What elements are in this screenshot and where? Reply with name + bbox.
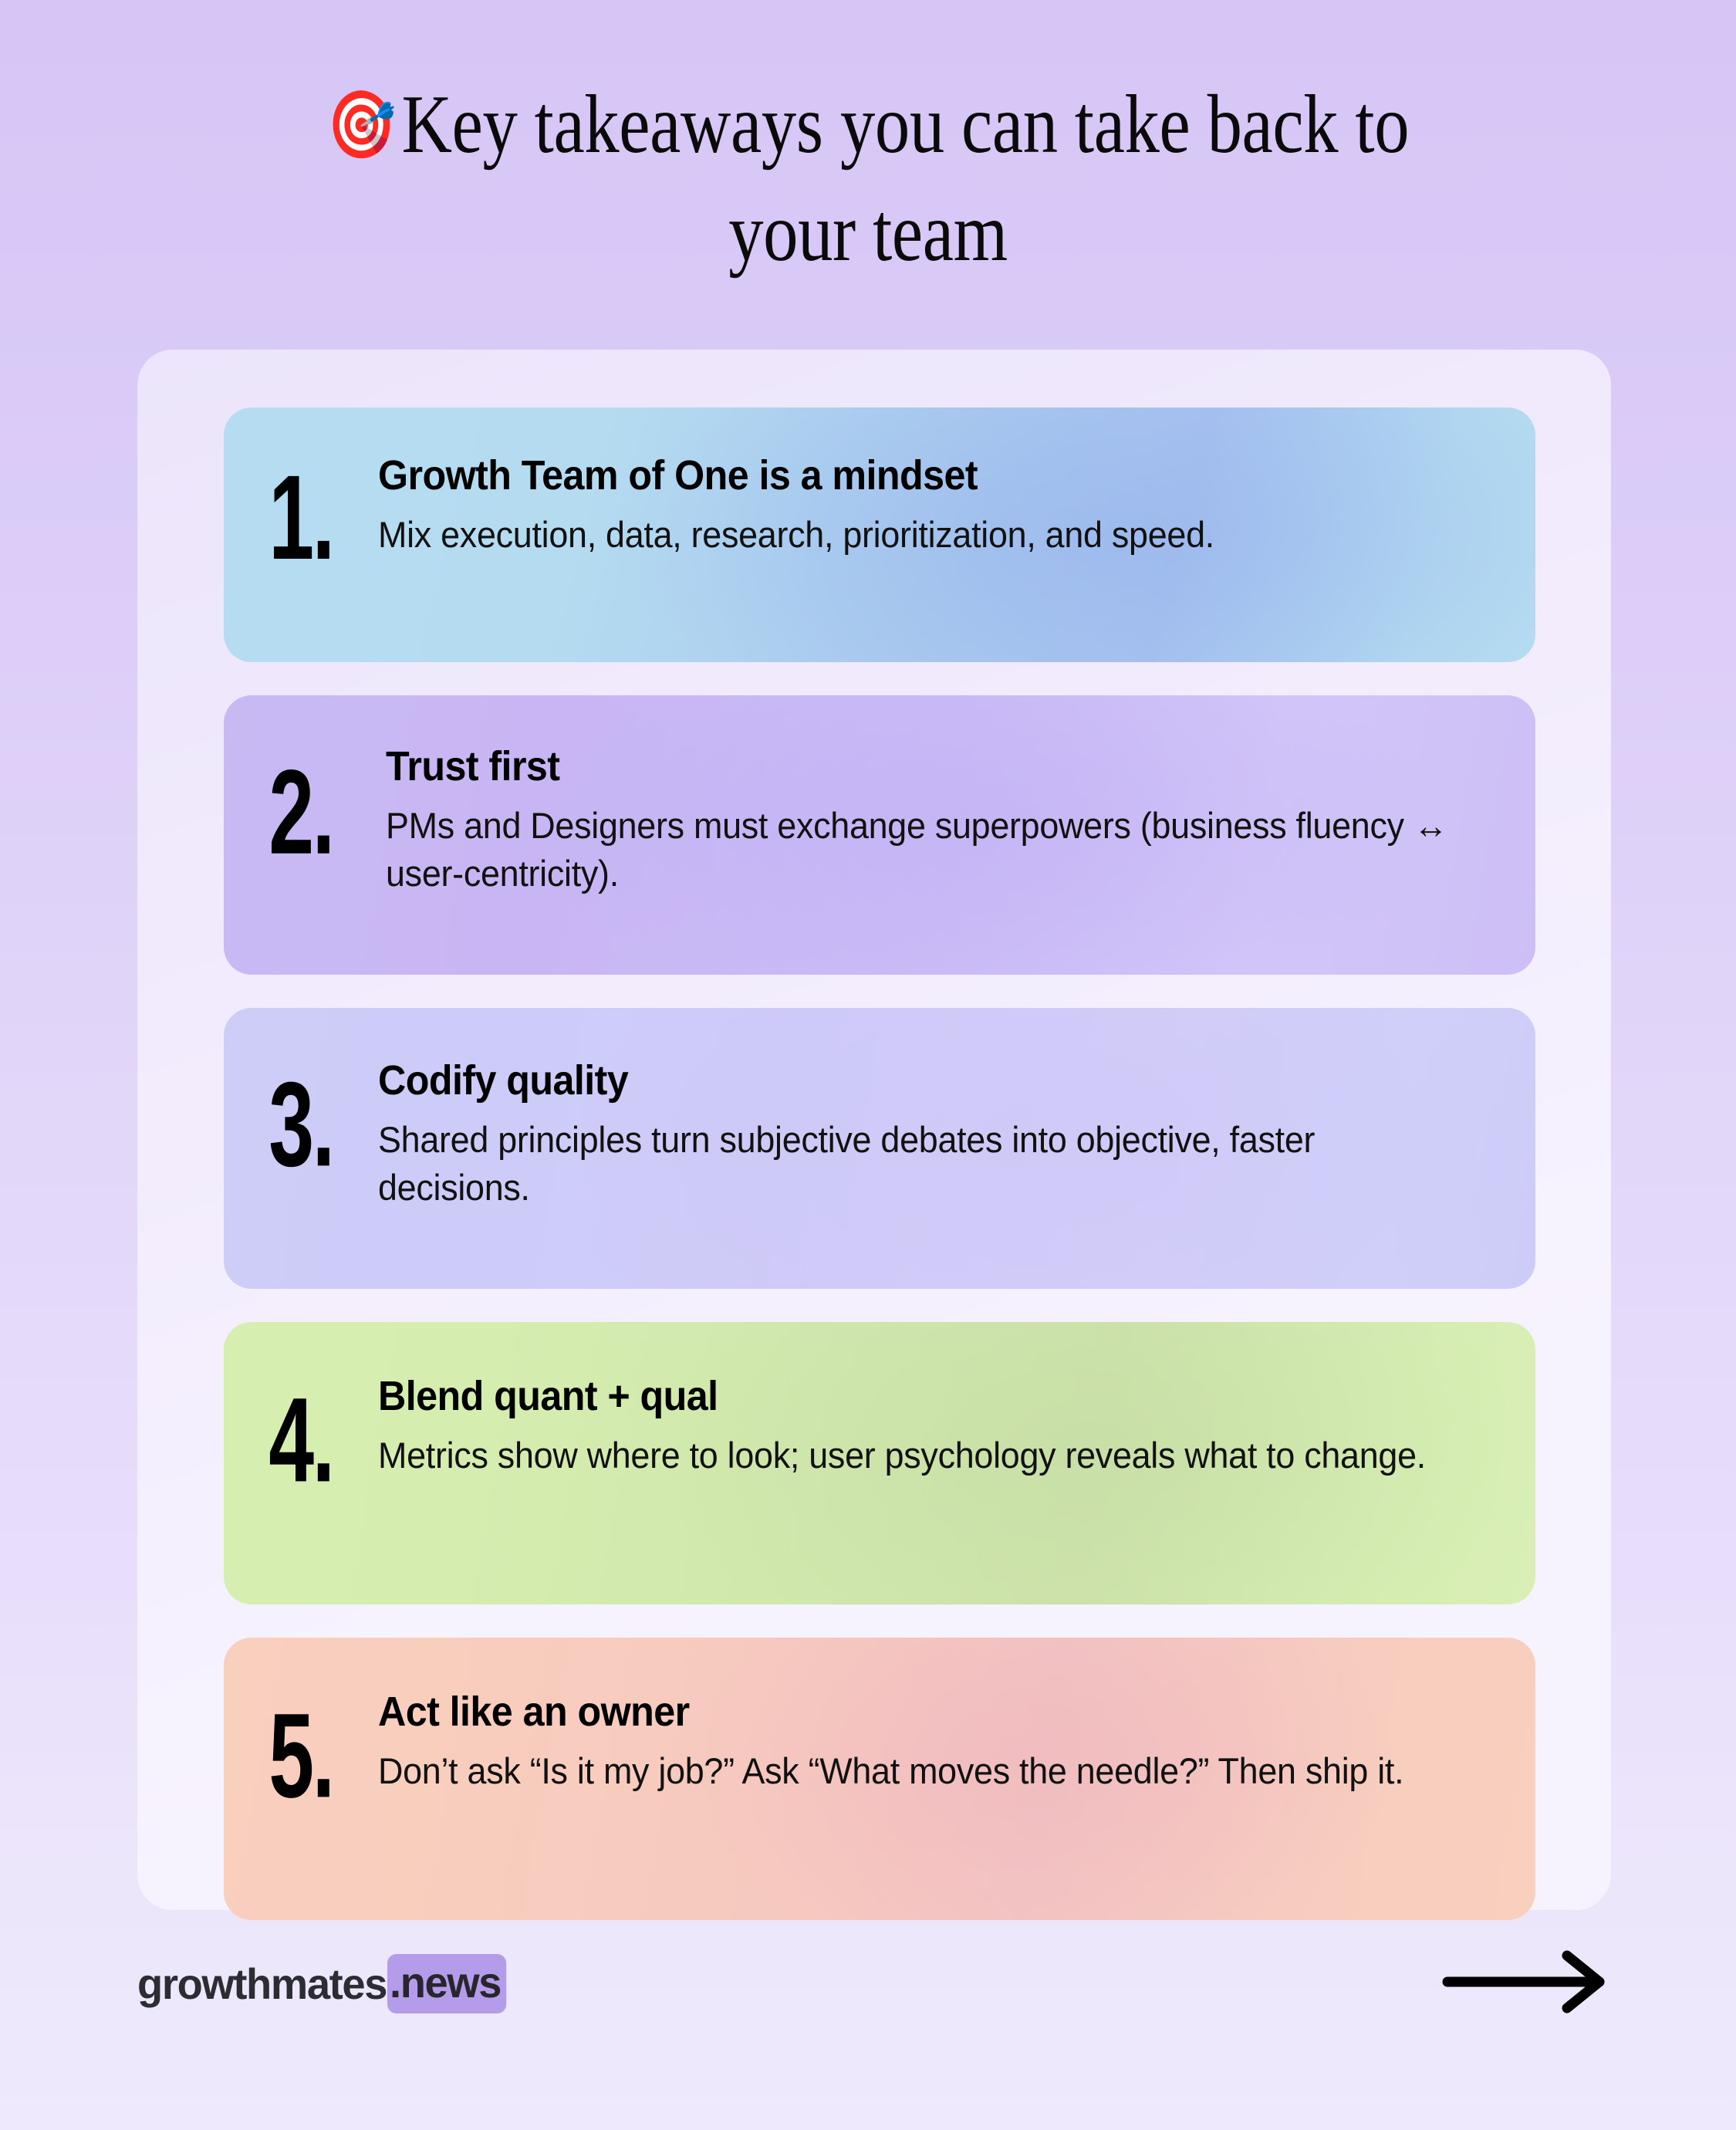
takeaway-card-3[interactable]: 3. Codify quality Shared principles turn… (224, 1008, 1535, 1289)
page-title: 🎯Key takeaways you can take back to your… (317, 71, 1419, 288)
brand-logo[interactable]: growthmates.news (137, 1954, 506, 2013)
takeaway-title: Codify quality (378, 1057, 1426, 1104)
takeaway-description: Mix execution, data, research, prioritiz… (378, 511, 1454, 558)
takeaway-content: Trust first PMs and Designers must excha… (378, 743, 1535, 897)
takeaway-content: Blend quant + qual Metrics show where to… (378, 1373, 1535, 1479)
brand-name: growthmates (137, 1959, 387, 2009)
takeaway-card-5[interactable]: 5. Act like an owner Don’t ask “Is it my… (224, 1638, 1535, 1920)
arrow-right-icon[interactable] (1441, 1949, 1611, 2018)
page-footer: growthmates.news (137, 1941, 1611, 2026)
takeaway-number: 3. (239, 1057, 363, 1185)
takeaway-title: Growth Team of One is a mindset (378, 452, 1426, 499)
takeaway-description: Shared principles turn subjective debate… (378, 1116, 1454, 1210)
takeaway-description: Don’t ask “Is it my job?” Ask “What move… (378, 1747, 1454, 1794)
dart-target-icon: 🎯 (327, 88, 397, 162)
takeaway-title: Trust first (386, 743, 1427, 789)
takeaways-list: 1. Growth Team of One is a mindset Mix e… (224, 407, 1535, 1920)
takeaway-description: PMs and Designers must exchange superpow… (386, 802, 1454, 896)
takeaway-number: 2. (239, 743, 363, 873)
takeaway-card-4[interactable]: 4. Blend quant + qual Metrics show where… (224, 1322, 1535, 1604)
takeaway-number: 5. (239, 1689, 363, 1816)
takeaway-card-2[interactable]: 2. Trust first PMs and Designers must ex… (224, 695, 1535, 975)
takeaway-title: Blend quant + qual (378, 1373, 1426, 1419)
takeaways-panel: 1. Growth Team of One is a mindset Mix e… (137, 350, 1611, 1910)
brand-tld: .news (387, 1954, 506, 2013)
takeaway-content: Act like an owner Don’t ask “Is it my jo… (378, 1689, 1535, 1795)
takeaway-description: Metrics show where to look; user psychol… (378, 1432, 1454, 1479)
takeaway-card-1[interactable]: 1. Growth Team of One is a mindset Mix e… (224, 407, 1535, 662)
page-title-text: Key takeaways you can take back to your … (402, 79, 1410, 279)
takeaway-title: Act like an owner (378, 1689, 1426, 1735)
takeaway-number: 4. (239, 1373, 363, 1500)
takeaway-content: Codify quality Shared principles turn su… (378, 1057, 1535, 1211)
page-header: 🎯Key takeaways you can take back to your… (0, 0, 1736, 288)
takeaway-number: 1. (239, 452, 363, 578)
takeaway-content: Growth Team of One is a mindset Mix exec… (378, 452, 1535, 559)
